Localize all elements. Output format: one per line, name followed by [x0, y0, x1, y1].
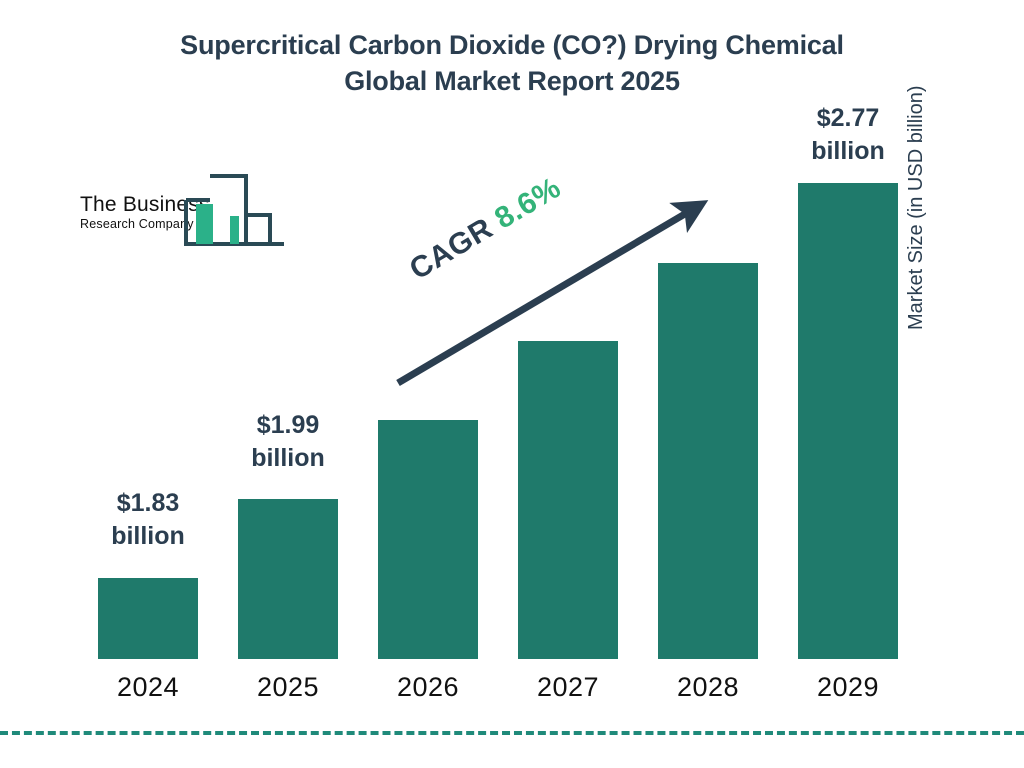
- x-tick-2024: 2024: [83, 672, 213, 703]
- bar-value-label-2024: $1.83 billion: [83, 487, 213, 552]
- x-tick-2026: 2026: [363, 672, 493, 703]
- x-tick-2025: 2025: [223, 672, 353, 703]
- chart-canvas: Supercritical Carbon Dioxide (CO?) Dryin…: [0, 0, 1024, 768]
- bar-2028[interactable]: [658, 263, 758, 659]
- bar-value-amount-2029: $2.77: [783, 102, 913, 135]
- bar-value-amount-2025: $1.99: [223, 409, 353, 442]
- bar-value-unit-2025: billion: [223, 442, 353, 475]
- y-axis-label: Market Size (in USD billion): [905, 0, 928, 330]
- bar-value-label-2025: $1.99 billion: [223, 409, 353, 474]
- bar-2029[interactable]: [798, 183, 898, 659]
- x-tick-2029: 2029: [783, 672, 913, 703]
- bar-value-label-2029: $2.77 billion: [783, 102, 913, 167]
- bar-2026[interactable]: [378, 420, 478, 659]
- footer-divider: [0, 731, 1024, 735]
- bar-2024[interactable]: [98, 578, 198, 659]
- bar-chart-plot: $1.83 billion $1.99 billion $2.77 billio…: [0, 0, 1024, 768]
- bar-value-amount-2024: $1.83: [83, 487, 213, 520]
- x-tick-2028: 2028: [643, 672, 773, 703]
- bar-value-unit-2029: billion: [783, 135, 913, 168]
- x-tick-2027: 2027: [503, 672, 633, 703]
- bar-2025[interactable]: [238, 499, 338, 659]
- bar-value-unit-2024: billion: [83, 520, 213, 553]
- bar-2027[interactable]: [518, 341, 618, 659]
